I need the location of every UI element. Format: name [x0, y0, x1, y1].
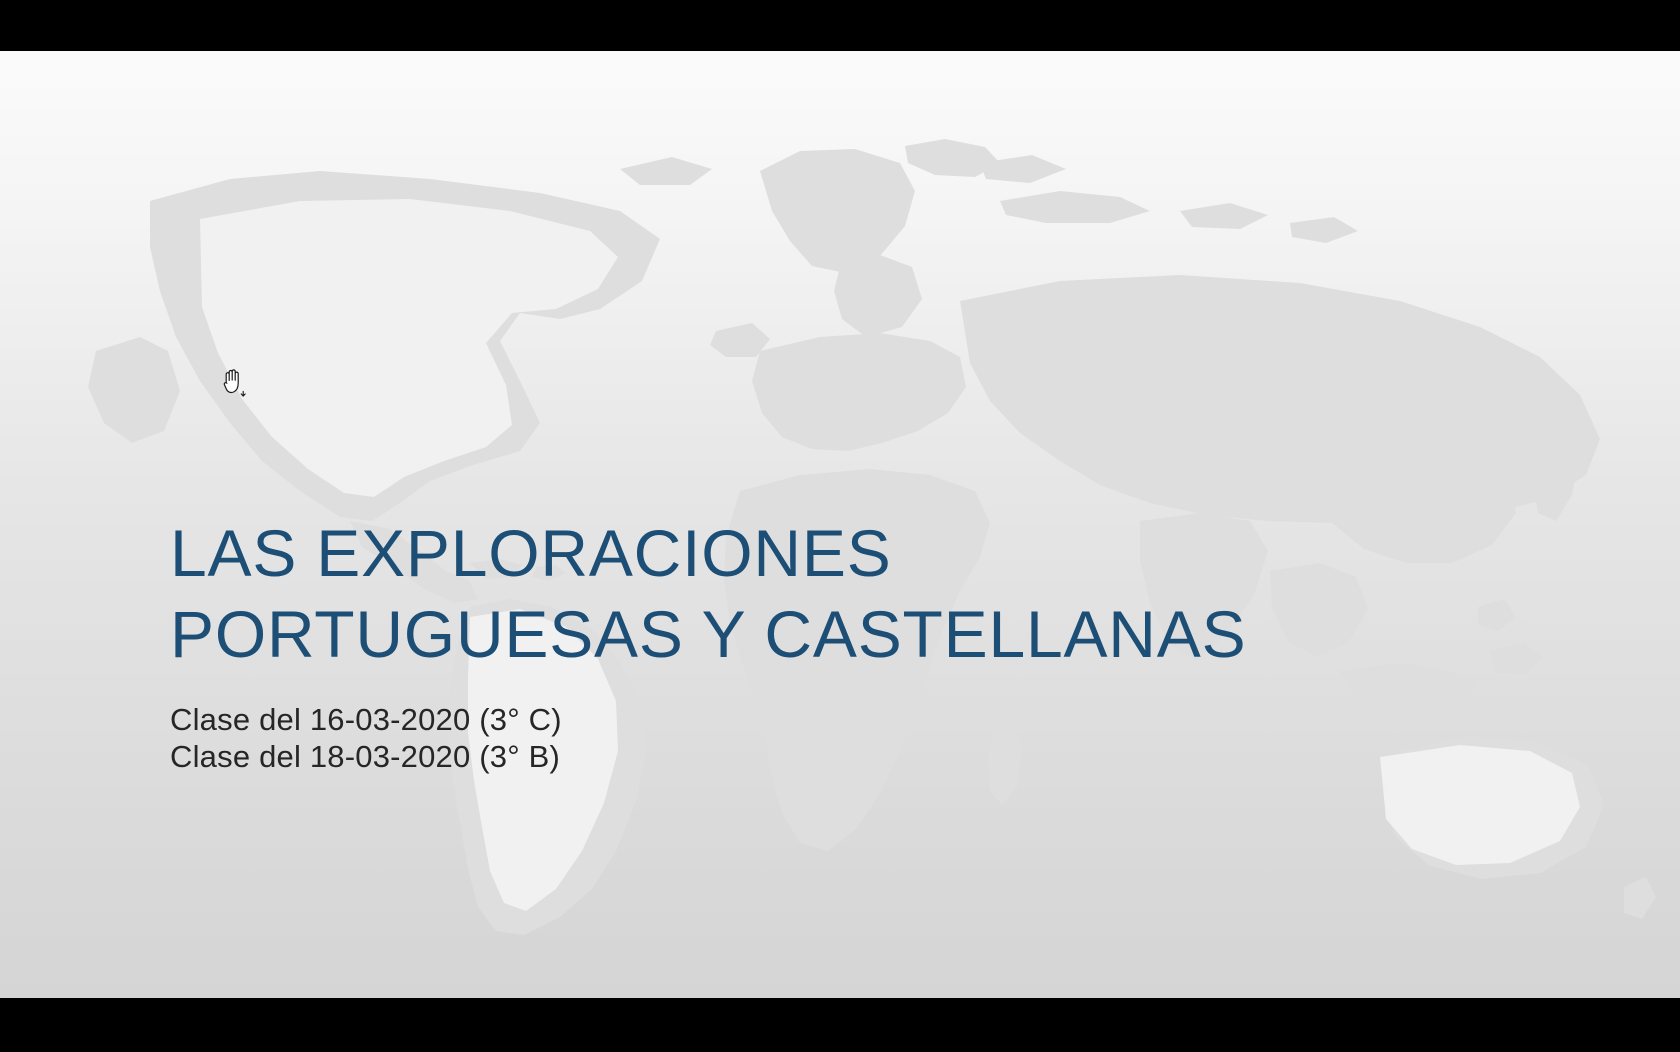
letterbox-top: [0, 0, 1680, 51]
title-block: LAS EXPLORACIONES PORTUGUESAS Y CASTELLA…: [170, 513, 1430, 775]
grab-hand-cursor-icon: [219, 364, 249, 398]
presentation-viewer[interactable]: LAS EXPLORACIONES PORTUGUESAS Y CASTELLA…: [0, 0, 1680, 1052]
slide-canvas[interactable]: LAS EXPLORACIONES PORTUGUESAS Y CASTELLA…: [0, 51, 1680, 998]
slide-subtitle: Clase del 16-03-2020 (3° C) Clase del 18…: [170, 674, 1430, 775]
slide-title: LAS EXPLORACIONES PORTUGUESAS Y CASTELLA…: [170, 513, 1430, 674]
letterbox-bottom: [0, 998, 1680, 1052]
